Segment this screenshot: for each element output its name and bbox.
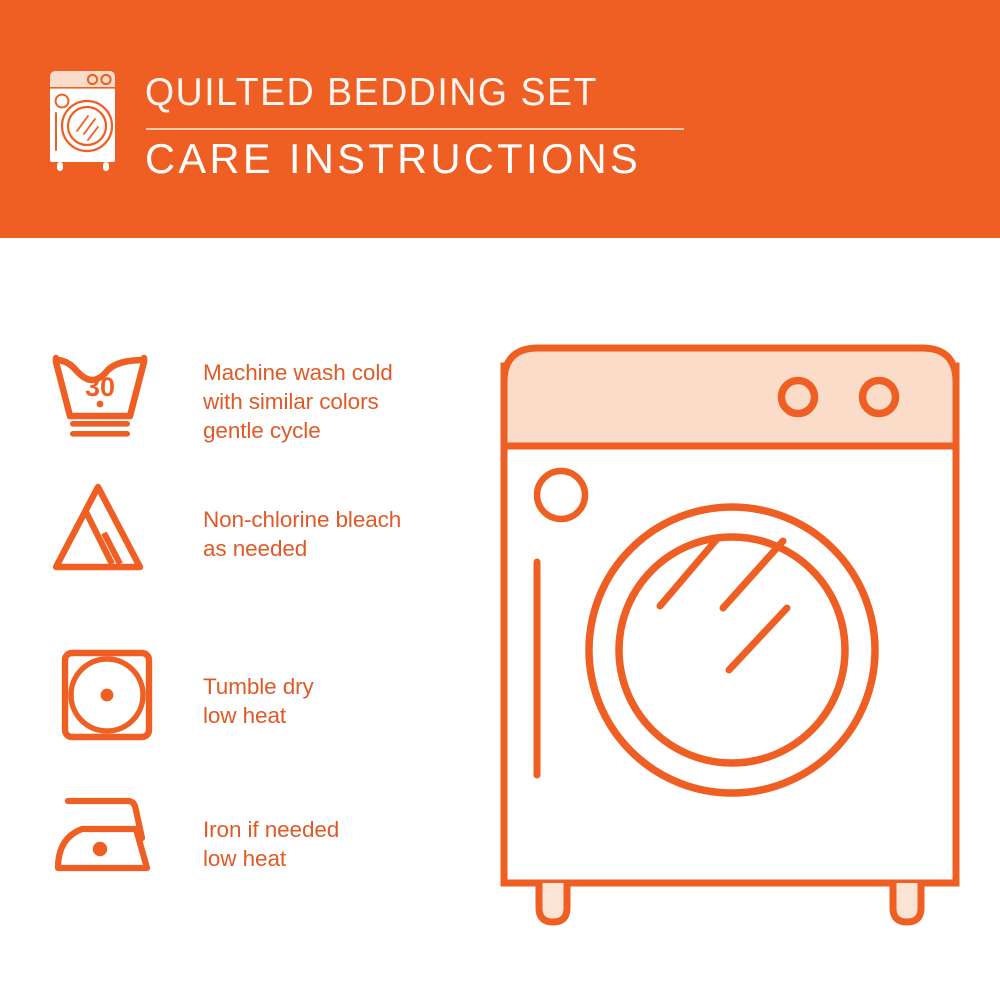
wash-temperature-label: 30 (85, 372, 115, 402)
header-banner: QUILTED BEDDING SET CARE INSTRUCTIONS (0, 0, 1000, 238)
care-row-bleach: Non-chlorine bleach as needed (0, 481, 470, 581)
care-row-iron: Iron if needed low heat (0, 791, 470, 891)
non-chlorine-bleach-symbol (50, 481, 146, 573)
washing-machine-icon (45, 68, 127, 172)
page-subtitle: CARE INSTRUCTIONS (145, 134, 641, 184)
care-row-iron-label: Iron if needed low heat (203, 815, 339, 873)
care-instructions-page: QUILTED BEDDING SET CARE INSTRUCTIONS 30 (0, 0, 1000, 1000)
care-instruction-list: 30 Machine wash cold with similar colors… (0, 238, 480, 1000)
care-row-tumble-dry: Tumble dry low heat (0, 648, 470, 748)
machine-wash-cold-30-gentle-symbol: 30 (52, 350, 148, 442)
care-row-machine-wash-label: Machine wash cold with similar colors ge… (203, 358, 393, 445)
tumble-dry-low-heat-symbol (60, 648, 156, 742)
care-row-machine-wash: 30 Machine wash cold with similar colors… (0, 350, 470, 458)
header-title-block: QUILTED BEDDING SET CARE INSTRUCTIONS (145, 70, 705, 182)
page-title: QUILTED BEDDING SET (145, 70, 598, 116)
care-row-tumble-dry-label: Tumble dry low heat (203, 672, 314, 730)
front-load-washing-machine-illustration (495, 330, 965, 930)
care-row-bleach-label: Non-chlorine bleach as needed (203, 505, 401, 563)
iron-low-heat-symbol (52, 791, 162, 879)
title-divider (146, 128, 684, 130)
